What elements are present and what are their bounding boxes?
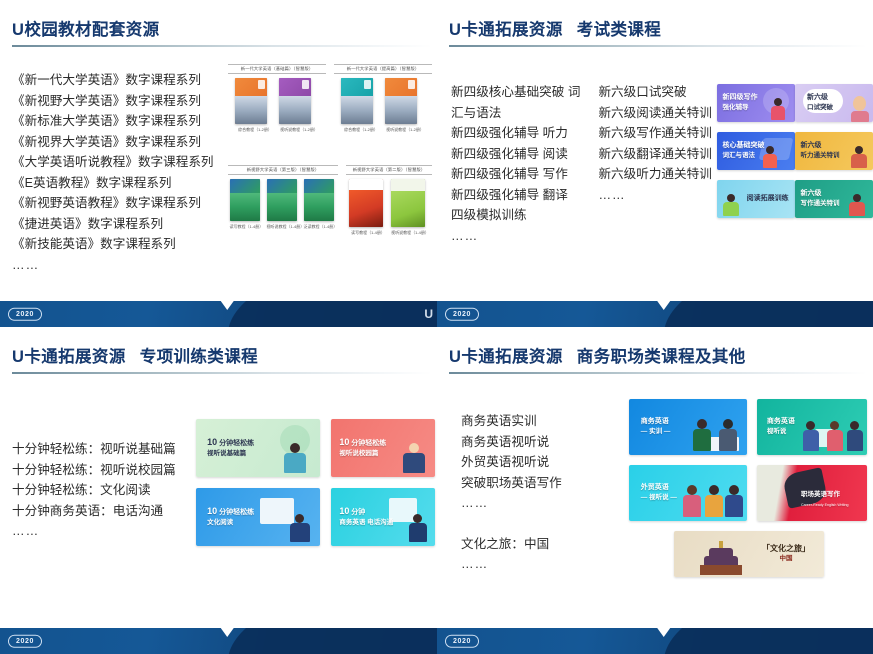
page-title: U卡通拓展资源 专项训练类课程 xyxy=(12,343,258,367)
page-title: U卡通拓展资源 考试类课程 xyxy=(449,16,661,40)
course-list: 《新一代大学英语》数字课程系列 《新视野大学英语》数字课程系列 《新标准大学英语… xyxy=(12,70,214,275)
course-card[interactable]: 核心基础突破词汇与语法 xyxy=(717,132,795,170)
book-cover[interactable] xyxy=(385,78,417,124)
slide-footer: 2020 U xyxy=(0,301,437,327)
slide-business-workplace-courses: U卡通拓展资源 商务职场类课程及其他 商务英语实训 商务英语视听说 外贸英语视听… xyxy=(437,327,873,654)
title-divider xyxy=(12,372,432,374)
list-item: 商务英语视听说 xyxy=(461,432,562,453)
course-list-column-left: 新四级核心基础突破 词 汇与语法 新四级强化辅导 听力 新四级强化辅导 阅读 新… xyxy=(451,82,580,246)
slide-grid: U校园教材配套资源 《新一代大学英语》数字课程系列 《新视野大学英语》数字课程系… xyxy=(0,0,873,654)
slide-content: U卡通拓展资源 考试类课程 新四级核心基础突破 词 汇与语法 新四级强化辅导 听… xyxy=(437,0,873,327)
course-card-label: 商务英语视听说 xyxy=(767,417,795,437)
footer-wedge-shape xyxy=(656,628,873,654)
course-card-label: 外贸英语— 视听说 — xyxy=(641,483,677,503)
course-card[interactable]: 10 分钟轻松练 文化阅读 xyxy=(196,488,320,546)
list-item: 《新视界大学英语》数字课程系列 xyxy=(12,132,214,153)
list-item: 新四级强化辅导 写作 xyxy=(451,164,580,185)
course-list-column: 《新一代大学英语》数字课程系列 《新视野大学英语》数字课程系列 《新标准大学英语… xyxy=(12,70,214,275)
book-cover[interactable] xyxy=(391,179,425,227)
course-card[interactable]: 10 分钟轻松练 视听说校园篇 xyxy=(331,419,435,477)
course-list-column: 商务英语实训 商务英语视听说 外贸英语视听说 突破职场英语写作 …… 文化之旅：… xyxy=(461,411,562,575)
course-card-label: 10 分钟 商务英语 电话沟通 xyxy=(339,506,393,528)
year-badge: 2020 xyxy=(8,308,42,321)
list-item: 《大学英语听说教程》数字课程系列 xyxy=(12,152,214,173)
list-item: 商务英语实训 xyxy=(461,411,562,432)
course-card-grid: 商务英语— 实训 — xyxy=(629,399,869,577)
title-main: U卡通拓展资源 xyxy=(12,348,126,366)
book-caption: 综合教程（1-2册） xyxy=(341,127,381,133)
book-row: 读写教程（1-4册） 视听说教程（1-4册） xyxy=(228,179,338,230)
list-spacer xyxy=(461,514,562,534)
list-item: 突破职场英语写作 xyxy=(461,473,562,494)
course-card[interactable]: 阅读拓展训练 xyxy=(717,180,795,218)
course-card-label: 新六级口试突破 xyxy=(807,93,833,113)
book-row: 综合教程（1-2册） 视听说教程（1-2册） xyxy=(334,78,432,133)
book-cover[interactable] xyxy=(279,78,311,124)
list-item: 新六级翻译通关特训 xyxy=(598,144,711,165)
list-item: 新四级核心基础突破 词 xyxy=(451,82,580,103)
slide-content: U卡通拓展资源 专项训练类课程 十分钟轻松练：视听说基础篇 十分钟轻松练：视听说… xyxy=(0,327,437,654)
course-card-label: 新六级写作通关特训 xyxy=(800,189,839,209)
list-item: 文化之旅：中国 xyxy=(461,534,562,555)
list-item: 新六级口试突破 xyxy=(598,82,711,103)
list-item: 新六级阅读通关特训 xyxy=(598,103,711,124)
shelf-caption: 新一代大学英语（提高篇）（智慧版） xyxy=(334,64,432,74)
title-main: U校园教材配套资源 xyxy=(12,21,160,39)
course-card[interactable]: 10 分钟轻松练 视听说基础篇 xyxy=(196,419,320,477)
footer-notch-icon xyxy=(214,301,240,310)
list-item: 新六级写作通关特训 xyxy=(598,123,711,144)
slide-content: U校园教材配套资源 《新一代大学英语》数字课程系列 《新视野大学英语》数字课程系… xyxy=(0,0,437,327)
book-cover[interactable] xyxy=(230,179,260,221)
list-item-ellipsis: …… xyxy=(12,521,176,542)
book-cover[interactable] xyxy=(267,179,297,221)
course-card-label: 「文化之旅」中国 xyxy=(762,544,810,564)
title-divider xyxy=(449,45,867,47)
list-item-ellipsis: …… xyxy=(12,255,214,276)
course-card[interactable]: 商务英语视听说 xyxy=(757,399,867,455)
list-item: 《新标准大学英语》数字课程系列 xyxy=(12,111,214,132)
book-caption: 读写教程（1-4册） xyxy=(349,230,387,236)
course-card-label: 10 分钟轻松练 视听说基础篇 xyxy=(207,437,254,459)
course-card-label: 10 分钟轻松练 文化阅读 xyxy=(207,506,254,528)
course-card-label: 商务英语— 实训 — xyxy=(641,417,671,437)
course-card-label: 阅读拓展训练 xyxy=(747,194,789,204)
ten-minute-mark: 10 xyxy=(339,437,349,447)
title-sub: 专项训练类课程 xyxy=(140,348,258,366)
title-main: U卡通拓展资源 xyxy=(449,21,563,39)
list-item: 四级模拟训练 xyxy=(451,205,580,226)
list-item: 新四级强化辅导 阅读 xyxy=(451,144,580,165)
title-sub: 商务职场类课程及其他 xyxy=(577,348,746,366)
book-caption: 泛读教程（1-4册） xyxy=(304,224,337,230)
course-card-thumbnails: 新四级写作强化辅导 新六级口试突破 xyxy=(717,84,873,218)
year-badge: 2020 xyxy=(445,308,479,321)
year-badge: 2020 xyxy=(8,635,42,648)
course-card[interactable]: 职场英语写作 Career-Ready English Writing xyxy=(757,465,867,521)
course-card[interactable]: 新六级写作通关特训 xyxy=(795,180,873,218)
list-item: 新四级强化辅导 听力 xyxy=(451,123,580,144)
course-card[interactable]: 新六级口试突破 xyxy=(795,84,873,122)
footer-wedge-shape xyxy=(220,628,437,654)
book-row: 综合教程（1-2册） 视听说教程（1-2册） xyxy=(228,78,326,133)
shelf-caption: 新视野大学英语（第二版）（智慧版） xyxy=(346,165,432,175)
slide-footer: 2020 xyxy=(0,628,437,654)
book-cover[interactable] xyxy=(349,179,383,227)
page-title: U校园教材配套资源 xyxy=(12,16,160,40)
list-item-ellipsis: …… xyxy=(598,185,711,206)
list-item: 《新视野大学英语》数字课程系列 xyxy=(12,91,214,112)
title-divider xyxy=(449,372,867,374)
book-caption: 视听说教程（1-4册） xyxy=(267,224,300,230)
course-list: 商务英语实训 商务英语视听说 外贸英语视听说 突破职场英语写作 …… 文化之旅：… xyxy=(461,411,562,575)
title-divider xyxy=(12,45,432,47)
book-cover[interactable] xyxy=(341,78,373,124)
list-item: 《新视野英语教程》数字课程系列 xyxy=(12,193,214,214)
footer-notch-icon xyxy=(214,628,240,637)
course-card[interactable]: 10 分钟 商务英语 电话沟通 xyxy=(331,488,435,546)
shelf-caption: 新一代大学英语（基础篇）（智慧版） xyxy=(228,64,326,74)
list-item-ellipsis: …… xyxy=(461,554,562,575)
course-card-label: 新六级听力通关特训 xyxy=(800,141,839,161)
footer-wedge-shape xyxy=(220,301,437,327)
book-caption: 视听说教程（1-2册） xyxy=(385,127,425,133)
ten-minute-mark: 10 xyxy=(207,437,217,447)
book-cover[interactable] xyxy=(235,78,267,124)
slide-exam-courses: U卡通拓展资源 考试类课程 新四级核心基础突破 词 汇与语法 新四级强化辅导 听… xyxy=(437,0,873,327)
course-card[interactable]: 新四级写作强化辅导 xyxy=(717,84,795,122)
year-badge: 2020 xyxy=(445,635,479,648)
slide-footer: 2020 xyxy=(437,301,873,327)
list-item: 十分钟商务英语：电话沟通 xyxy=(12,501,176,522)
course-card-label: 10 分钟轻松练 视听说校园篇 xyxy=(339,437,386,459)
list-item: 新四级强化辅导 翻译 xyxy=(451,185,580,206)
ten-minute-mark: 10 xyxy=(339,506,349,516)
list-item: 汇与语法 xyxy=(451,103,580,124)
list-item-ellipsis: …… xyxy=(451,226,580,247)
list-item: 《新技能英语》数字课程系列 xyxy=(12,234,214,255)
textbook-thumbnails: 新一代大学英语（基础篇）（智慧版） 综合教程（1-2册） xyxy=(228,64,433,236)
course-list: 新四级核心基础突破 词 汇与语法 新四级强化辅导 听力 新四级强化辅导 阅读 新… xyxy=(451,82,712,246)
title-sub: 考试类课程 xyxy=(577,21,662,39)
footer-wedge-shape xyxy=(656,301,873,327)
book-shelf[interactable]: 新一代大学英语（基础篇）（智慧版） 综合教程（1-2册） xyxy=(228,64,326,133)
slide-content: U卡通拓展资源 商务职场类课程及其他 商务英语实训 商务英语视听说 外贸英语视听… xyxy=(437,327,873,654)
shelf-caption: 新视野大学英语（第三版）（智慧版） xyxy=(228,165,338,175)
book-row: 读写教程（1-4册） 视听说教程（1-4册） xyxy=(346,179,432,236)
list-item: 外贸英语视听说 xyxy=(461,452,562,473)
course-card-label: 核心基础突破词汇与语法 xyxy=(722,141,764,161)
slide-footer: 2020 xyxy=(437,628,873,654)
slide-textbook-resources: U校园教材配套资源 《新一代大学英语》数字课程系列 《新视野大学英语》数字课程系… xyxy=(0,0,437,327)
book-shelf[interactable]: 新一代大学英语（提高篇）（智慧版） 综合教程（1-2册） xyxy=(334,64,432,133)
book-shelf[interactable]: 新视野大学英语（第二版）（智慧版） 读写教程（1-4册） xyxy=(346,165,432,236)
course-card-label: 新四级写作强化辅导 xyxy=(722,93,757,113)
course-card[interactable]: 「文化之旅」中国 xyxy=(674,531,824,577)
list-item-ellipsis: …… xyxy=(461,493,562,514)
list-item: 《新一代大学英语》数字课程系列 xyxy=(12,70,214,91)
page-title: U卡通拓展资源 商务职场类课程及其他 xyxy=(449,343,746,367)
footer-edge-mark: U xyxy=(424,307,433,321)
list-item: 《捷进英语》数字课程系列 xyxy=(12,214,214,235)
course-card-grid: 10 分钟轻松练 视听说基础篇 10 分钟轻松练 视 xyxy=(196,419,436,546)
title-main: U卡通拓展资源 xyxy=(449,348,563,366)
book-caption: 读写教程（1-4册） xyxy=(230,224,263,230)
course-list-column-right: 新六级口试突破 新六级阅读通关特训 新六级写作通关特训 新六级翻译通关特训 新六… xyxy=(598,82,711,246)
course-list-column: 十分钟轻松练：视听说基础篇 十分钟轻松练：视听说校园篇 十分钟轻松练：文化阅读 … xyxy=(12,439,176,542)
list-item: 十分钟轻松练：视听说校园篇 xyxy=(12,460,176,481)
ten-minute-mark: 10 xyxy=(207,506,217,516)
course-card[interactable]: 商务英语— 实训 — xyxy=(629,399,747,455)
book-cover[interactable] xyxy=(304,179,334,221)
list-item: 新六级听力通关特训 xyxy=(598,164,711,185)
course-card-label: 职场英语写作 Career-Ready English Writing xyxy=(801,490,848,510)
course-card[interactable]: 新六级听力通关特训 xyxy=(795,132,873,170)
book-caption: 视听说教程（1-2册） xyxy=(279,127,319,133)
course-card[interactable]: 外贸英语— 视听说 — xyxy=(629,465,747,521)
list-item: 《E英语教程》数字课程系列 xyxy=(12,173,214,194)
list-item: 十分钟轻松练：文化阅读 xyxy=(12,480,176,501)
course-list: 十分钟轻松练：视听说基础篇 十分钟轻松练：视听说校园篇 十分钟轻松练：文化阅读 … xyxy=(12,439,176,542)
book-caption: 综合教程（1-2册） xyxy=(235,127,275,133)
book-caption: 视听说教程（1-4册） xyxy=(391,230,429,236)
list-item: 十分钟轻松练：视听说基础篇 xyxy=(12,439,176,460)
book-shelf[interactable]: 新视野大学英语（第三版）（智慧版） 读写教程（1-4册） xyxy=(228,165,338,236)
slide-special-training-courses: U卡通拓展资源 专项训练类课程 十分钟轻松练：视听说基础篇 十分钟轻松练：视听说… xyxy=(0,327,437,654)
